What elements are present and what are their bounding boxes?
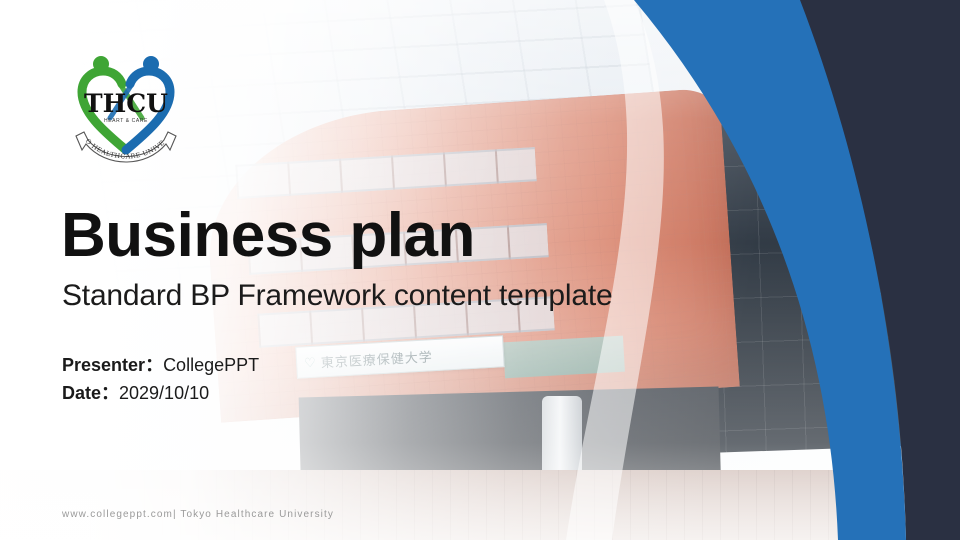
presenter-separator: ： bbox=[145, 355, 163, 375]
page-subtitle: Standard BP Framework content template bbox=[62, 278, 612, 314]
date-separator: ： bbox=[101, 383, 119, 403]
presenter-meta-block: Presenter：CollegePPT Date：2029/10/10 bbox=[62, 352, 259, 408]
university-logo: THCU HEART & CARE TOKYO HEALTHCARE UNIVE… bbox=[62, 46, 190, 174]
presenter-row: Presenter：CollegePPT bbox=[62, 352, 259, 380]
page-title: Business plan bbox=[61, 203, 475, 268]
logo-monogram: THCU bbox=[84, 89, 168, 118]
logo-tagline: HEART & CARE bbox=[104, 118, 148, 124]
logo-head-blue-icon bbox=[143, 56, 159, 72]
presenter-value: CollegePPT bbox=[163, 355, 259, 375]
date-value: 2029/10/10 bbox=[119, 383, 209, 403]
presenter-label: Presenter bbox=[62, 355, 145, 375]
date-label: Date bbox=[62, 383, 101, 403]
slide-canvas: ♡ 東京医療保健大学 bbox=[0, 0, 960, 540]
date-row: Date：2029/10/10 bbox=[62, 380, 259, 408]
footer-credit: www.collegeppt.com| Tokyo Healthcare Uni… bbox=[62, 509, 334, 520]
logo-head-green-icon bbox=[93, 56, 109, 72]
